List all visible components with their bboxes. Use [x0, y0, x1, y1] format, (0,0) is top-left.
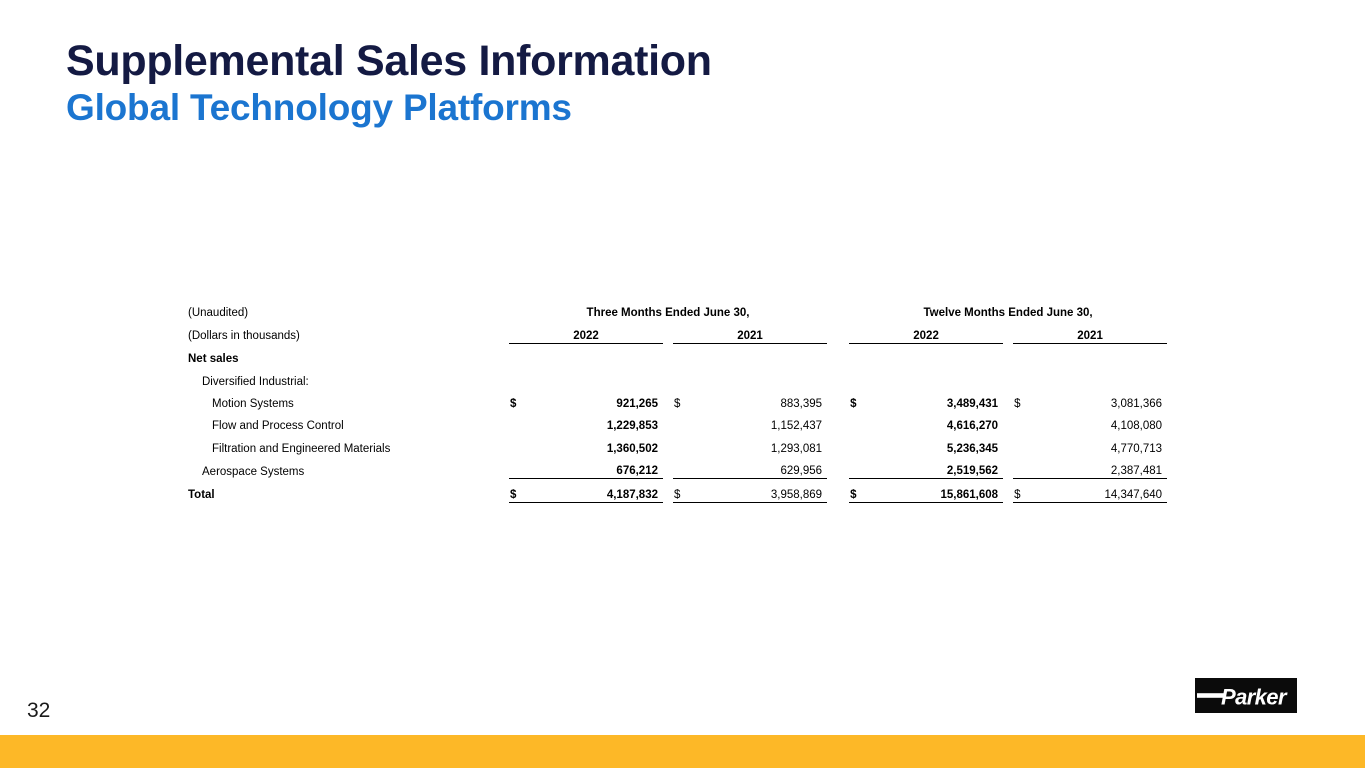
cell-spacer — [663, 479, 673, 502]
cell-spacer — [1003, 479, 1013, 502]
column-group-three-months: Three Months Ended June 30, — [509, 298, 827, 320]
currency-placeholder — [673, 433, 691, 455]
table-row: Motion Systems $ 921,265 $ 883,395 $ 3,4… — [188, 389, 1167, 411]
cell-value: 883,395 — [691, 389, 827, 411]
cell-value: 5,236,345 — [867, 433, 1003, 455]
note-units: (Dollars in thousands) — [188, 320, 509, 343]
section-header-net-sales: Net sales — [188, 343, 509, 366]
currency-placeholder — [849, 411, 867, 433]
cell-spacer — [663, 433, 673, 455]
financial-table-container: (Unaudited) Three Months Ended June 30, … — [188, 298, 1160, 503]
currency-placeholder — [1013, 433, 1031, 455]
page-subtitle: Global Technology Platforms — [66, 88, 712, 128]
cell-spacer — [663, 389, 673, 411]
header-spacer — [827, 298, 849, 320]
cell-spacer — [1003, 433, 1013, 455]
group-label-diversified-industrial: Diversified Industrial: — [188, 366, 509, 388]
total-value: 4,187,832 — [527, 479, 663, 502]
currency-symbol: $ — [849, 479, 867, 502]
currency-placeholder — [849, 456, 867, 479]
cell-spacer — [663, 456, 673, 479]
cell-value: 1,152,437 — [691, 411, 827, 433]
table-header-year-row: (Dollars in thousands) 2022 2021 2022 20… — [188, 320, 1167, 343]
cell-value: 3,489,431 — [867, 389, 1003, 411]
table-header-group-row: (Unaudited) Three Months Ended June 30, … — [188, 298, 1167, 320]
header-spacer — [1003, 320, 1013, 343]
total-value: 15,861,608 — [867, 479, 1003, 502]
title-block: Supplemental Sales Information Global Te… — [66, 38, 712, 128]
currency-symbol: $ — [849, 389, 867, 411]
cell-spacer — [1003, 389, 1013, 411]
svg-text:Parker: Parker — [1221, 685, 1288, 710]
cell-value: 676,212 — [527, 456, 663, 479]
cell-value: 3,081,366 — [1031, 389, 1167, 411]
table-section-header-row: Net sales — [188, 343, 1167, 366]
currency-placeholder — [509, 456, 527, 479]
currency-symbol: $ — [673, 389, 691, 411]
currency-symbol: $ — [673, 479, 691, 502]
note-unaudited: (Unaudited) — [188, 298, 509, 320]
cell-value: 4,108,080 — [1031, 411, 1167, 433]
cell-spacer — [827, 456, 849, 479]
currency-placeholder — [509, 433, 527, 455]
empty-cells — [509, 343, 1167, 366]
currency-placeholder — [1013, 456, 1031, 479]
cell-spacer — [827, 411, 849, 433]
cell-spacer — [663, 411, 673, 433]
currency-symbol: $ — [509, 479, 527, 502]
table-group-label-row: Diversified Industrial: — [188, 366, 1167, 388]
page-title: Supplemental Sales Information — [66, 38, 712, 84]
row-label: Filtration and Engineered Materials — [188, 433, 509, 455]
currency-placeholder — [849, 433, 867, 455]
cell-value: 1,229,853 — [527, 411, 663, 433]
cell-value: 2,519,562 — [867, 456, 1003, 479]
currency-placeholder — [673, 456, 691, 479]
cell-value: 4,770,713 — [1031, 433, 1167, 455]
currency-placeholder — [673, 411, 691, 433]
cell-value: 629,956 — [691, 456, 827, 479]
parker-wordmark-icon: Parker — [1195, 678, 1297, 713]
parker-logo: Parker — [1195, 678, 1297, 713]
column-header-y-2021: 2021 — [1013, 320, 1167, 343]
cell-spacer — [827, 433, 849, 455]
column-header-q-2022: 2022 — [509, 320, 663, 343]
cell-value: 921,265 — [527, 389, 663, 411]
cell-value: 2,387,481 — [1031, 456, 1167, 479]
table-row: Filtration and Engineered Materials 1,36… — [188, 433, 1167, 455]
financial-table: (Unaudited) Three Months Ended June 30, … — [188, 298, 1167, 503]
row-label: Aerospace Systems — [188, 456, 509, 479]
currency-symbol: $ — [509, 389, 527, 411]
row-label: Flow and Process Control — [188, 411, 509, 433]
cell-spacer — [827, 479, 849, 502]
table-row: Flow and Process Control 1,229,853 1,152… — [188, 411, 1167, 433]
currency-placeholder — [509, 411, 527, 433]
cell-value: 4,616,270 — [867, 411, 1003, 433]
cell-spacer — [827, 389, 849, 411]
total-value: 14,347,640 — [1031, 479, 1167, 502]
empty-cells — [509, 366, 1167, 388]
currency-symbol: $ — [1013, 479, 1031, 502]
total-value: 3,958,869 — [691, 479, 827, 502]
bottom-accent-bar — [0, 735, 1365, 768]
header-spacer — [827, 320, 849, 343]
cell-value: 1,360,502 — [527, 433, 663, 455]
cell-value: 1,293,081 — [691, 433, 827, 455]
table-row: Aerospace Systems 676,212 629,956 2,519,… — [188, 456, 1167, 479]
table-total-row: Total $ 4,187,832 $ 3,958,869 $ 15,861,6… — [188, 479, 1167, 502]
column-header-y-2022: 2022 — [849, 320, 1003, 343]
cell-spacer — [1003, 411, 1013, 433]
column-group-twelve-months: Twelve Months Ended June 30, — [849, 298, 1167, 320]
header-spacer — [663, 320, 673, 343]
total-label: Total — [188, 479, 509, 502]
page-number: 32 — [27, 699, 50, 723]
row-label: Motion Systems — [188, 389, 509, 411]
currency-placeholder — [1013, 411, 1031, 433]
column-header-q-2021: 2021 — [673, 320, 827, 343]
currency-symbol: $ — [1013, 389, 1031, 411]
cell-spacer — [1003, 456, 1013, 479]
